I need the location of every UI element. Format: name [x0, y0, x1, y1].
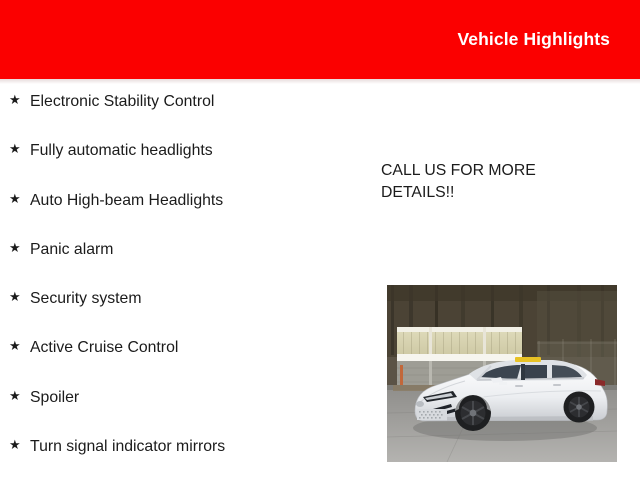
list-item: ★ Spoiler: [0, 388, 360, 437]
vehicle-highlights-list: ★ Electronic Stability Control ★ Fully a…: [0, 92, 360, 486]
list-item: ★ Auto High-beam Headlights: [0, 191, 360, 240]
list-item-label: Turn signal indicator mirrors: [30, 437, 225, 457]
vehicle-photo-illustration: [387, 285, 617, 462]
star-bullet-icon: ★: [9, 142, 30, 155]
vehicle-photo: [387, 285, 617, 462]
star-bullet-icon: ★: [9, 93, 30, 106]
list-item: ★ Active Cruise Control: [0, 338, 360, 387]
list-item: ★ Turn signal indicator mirrors: [0, 437, 360, 486]
star-bullet-icon: ★: [9, 192, 30, 205]
star-bullet-icon: ★: [9, 290, 30, 303]
call-to-action-line-1: CALL US FOR MORE: [381, 160, 581, 182]
list-item-label: Active Cruise Control: [30, 338, 178, 358]
star-bullet-icon: ★: [9, 339, 30, 352]
call-to-action-line-2: DETAILS!!: [381, 182, 581, 204]
list-item: ★ Fully automatic headlights: [0, 141, 360, 190]
page-title: Vehicle Highlights: [457, 29, 610, 50]
list-item-label: Fully automatic headlights: [30, 141, 213, 161]
header-divider-shadow: [0, 79, 640, 84]
star-bullet-icon: ★: [9, 389, 30, 402]
star-bullet-icon: ★: [9, 438, 30, 451]
list-item: ★ Panic alarm: [0, 240, 360, 289]
list-item-label: Spoiler: [30, 388, 79, 408]
list-item-label: Electronic Stability Control: [30, 92, 214, 112]
list-item: ★ Security system: [0, 289, 360, 338]
call-to-action-text: CALL US FOR MORE DETAILS!!: [381, 160, 581, 204]
list-item: ★ Electronic Stability Control: [0, 92, 360, 141]
list-item-label: Security system: [30, 289, 141, 309]
header-banner: Vehicle Highlights: [0, 0, 640, 79]
star-bullet-icon: ★: [9, 241, 30, 254]
list-item-label: Auto High-beam Headlights: [30, 191, 223, 211]
list-item-label: Panic alarm: [30, 240, 113, 260]
